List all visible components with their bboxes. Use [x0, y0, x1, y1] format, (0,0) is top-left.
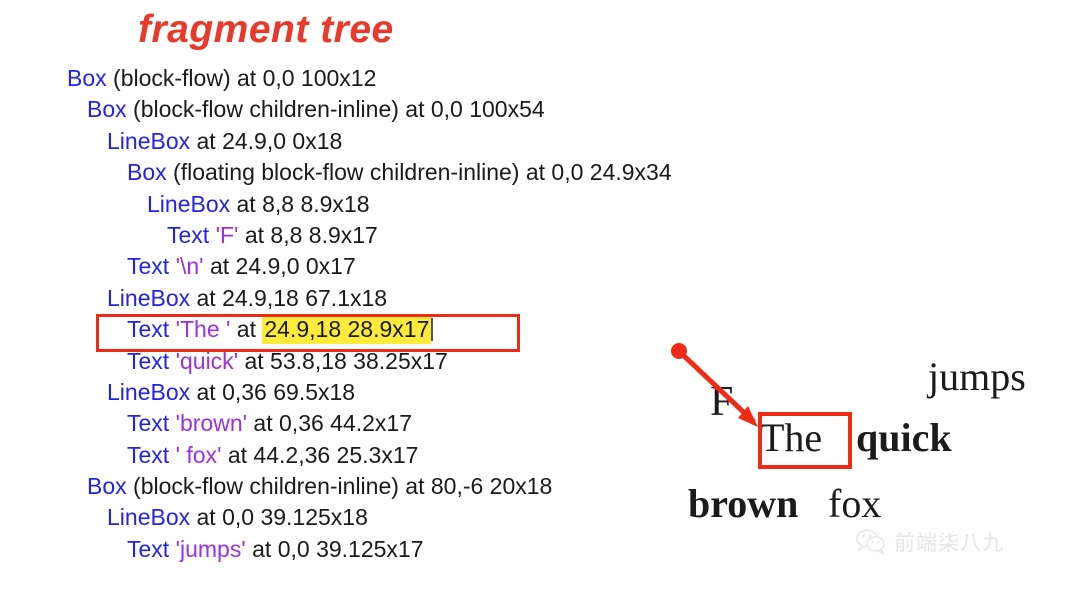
- tree-node-geometry: at 24.9,18 67.1x18: [190, 285, 387, 311]
- tree-node-geometry: (floating block-flow children-inline) at…: [167, 159, 672, 185]
- preview-word-quick: quick: [856, 414, 952, 461]
- preview-word-fox: fox: [828, 480, 881, 527]
- tree-node-geometry: (block-flow children-inline) at 0,0 100x…: [127, 96, 545, 122]
- tree-node-type: LineBox: [107, 504, 190, 530]
- tree-node-string: F: [220, 222, 234, 248]
- tree-node-geometry: at 24.9,0 0x17: [204, 253, 356, 279]
- preview-word-jumps: jumps: [928, 353, 1026, 400]
- page-title: fragment tree: [138, 8, 394, 52]
- tree-line[interactable]: LineBox at 24.9,0 0x18: [67, 126, 672, 157]
- wechat-icon: [856, 529, 886, 555]
- tree-line[interactable]: Text 'quick' at 53.8,18 38.25x17: [67, 346, 672, 377]
- tree-node-geometry: at 8,8 8.9x18: [230, 191, 369, 217]
- tree-line[interactable]: LineBox at 0,0 39.125x18: [67, 502, 672, 533]
- tree-line[interactable]: Box (block-flow) at 0,0 100x12: [67, 63, 672, 94]
- preview-word-brown: brown: [688, 480, 798, 527]
- tree-node-string: brown: [180, 410, 243, 436]
- tree-node-geometry: (block-flow children-inline) at 80,-6 20…: [127, 473, 553, 499]
- tree-line[interactable]: LineBox at 8,8 8.9x18: [67, 189, 672, 220]
- tree-node-type: LineBox: [107, 285, 190, 311]
- tree-node-string: fox: [180, 442, 217, 468]
- text-caret: [431, 318, 433, 341]
- tree-node-geometry: at 8,8 8.9x17: [238, 222, 377, 248]
- fragment-tree-listing: Box (block-flow) at 0,0 100x12Box (block…: [67, 63, 672, 565]
- tree-node-string: \n: [180, 253, 199, 279]
- tree-node-type: Text: [127, 410, 169, 436]
- tree-line[interactable]: LineBox at 24.9,18 67.1x18: [67, 283, 672, 314]
- watermark-text: 前端柒八九: [894, 527, 1004, 557]
- tree-line[interactable]: Text 'brown' at 0,36 44.2x17: [67, 408, 672, 439]
- tree-node-geometry: at 0,0 39.125x18: [190, 504, 368, 530]
- tree-node-string: jumps: [180, 536, 241, 562]
- tree-line[interactable]: Text ' fox' at 44.2,36 25.3x17: [67, 440, 672, 471]
- tree-line[interactable]: LineBox at 0,36 69.5x18: [67, 377, 672, 408]
- watermark: 前端柒八九: [856, 527, 1004, 557]
- preview-dropcap-f: F: [710, 378, 733, 426]
- preview-word-the: The: [760, 414, 822, 461]
- tree-node-geometry: at 53.8,18 38.25x17: [238, 348, 448, 374]
- tree-line[interactable]: Box (block-flow children-inline) at 80,-…: [67, 471, 672, 502]
- tree-node-type: Box: [87, 473, 127, 499]
- tree-node-geometry: at 24.9,0 0x18: [190, 128, 342, 154]
- tree-node-type: Box: [127, 159, 167, 185]
- tree-node-string: quick: [180, 348, 234, 374]
- tree-node-type: LineBox: [107, 379, 190, 405]
- tree-line[interactable]: Text 'jumps' at 0,0 39.125x17: [67, 534, 672, 565]
- tree-line[interactable]: Box (block-flow children-inline) at 0,0 …: [67, 94, 672, 125]
- tree-node-geometry: (block-flow) at 0,0 100x12: [107, 65, 377, 91]
- tree-node-type: LineBox: [147, 191, 230, 217]
- tree-node-type: Box: [67, 65, 107, 91]
- tree-node-type: Text: [127, 536, 169, 562]
- tree-node-string: The: [180, 316, 226, 342]
- tree-node-type: Box: [87, 96, 127, 122]
- tree-node-type: Text: [127, 442, 169, 468]
- highlighted-geometry: 24.9,18 28.9x17: [262, 315, 431, 344]
- tree-node-geometry: at 0,36 44.2x17: [247, 410, 412, 436]
- tree-line[interactable]: Box (floating block-flow children-inline…: [67, 157, 672, 188]
- tree-node-geometry: at 0,36 69.5x18: [190, 379, 355, 405]
- tree-node-geometry: at: [230, 316, 262, 342]
- tree-node-type: Text: [127, 253, 169, 279]
- tree-node-geometry: at 44.2,36 25.3x17: [221, 442, 418, 468]
- tree-node-type: Text: [127, 316, 169, 342]
- tree-node-type: Text: [127, 348, 169, 374]
- rendered-text-preview: F The quick jumps brown fox: [660, 330, 1080, 550]
- tree-line[interactable]: Text '\n' at 24.9,0 0x17: [67, 251, 672, 282]
- tree-line[interactable]: Text 'The ' at 24.9,18 28.9x17: [67, 314, 672, 345]
- tree-node-type: Text: [167, 222, 209, 248]
- tree-line[interactable]: Text 'F' at 8,8 8.9x17: [67, 220, 672, 251]
- tree-node-type: LineBox: [107, 128, 190, 154]
- tree-node-geometry: at 0,0 39.125x17: [246, 536, 424, 562]
